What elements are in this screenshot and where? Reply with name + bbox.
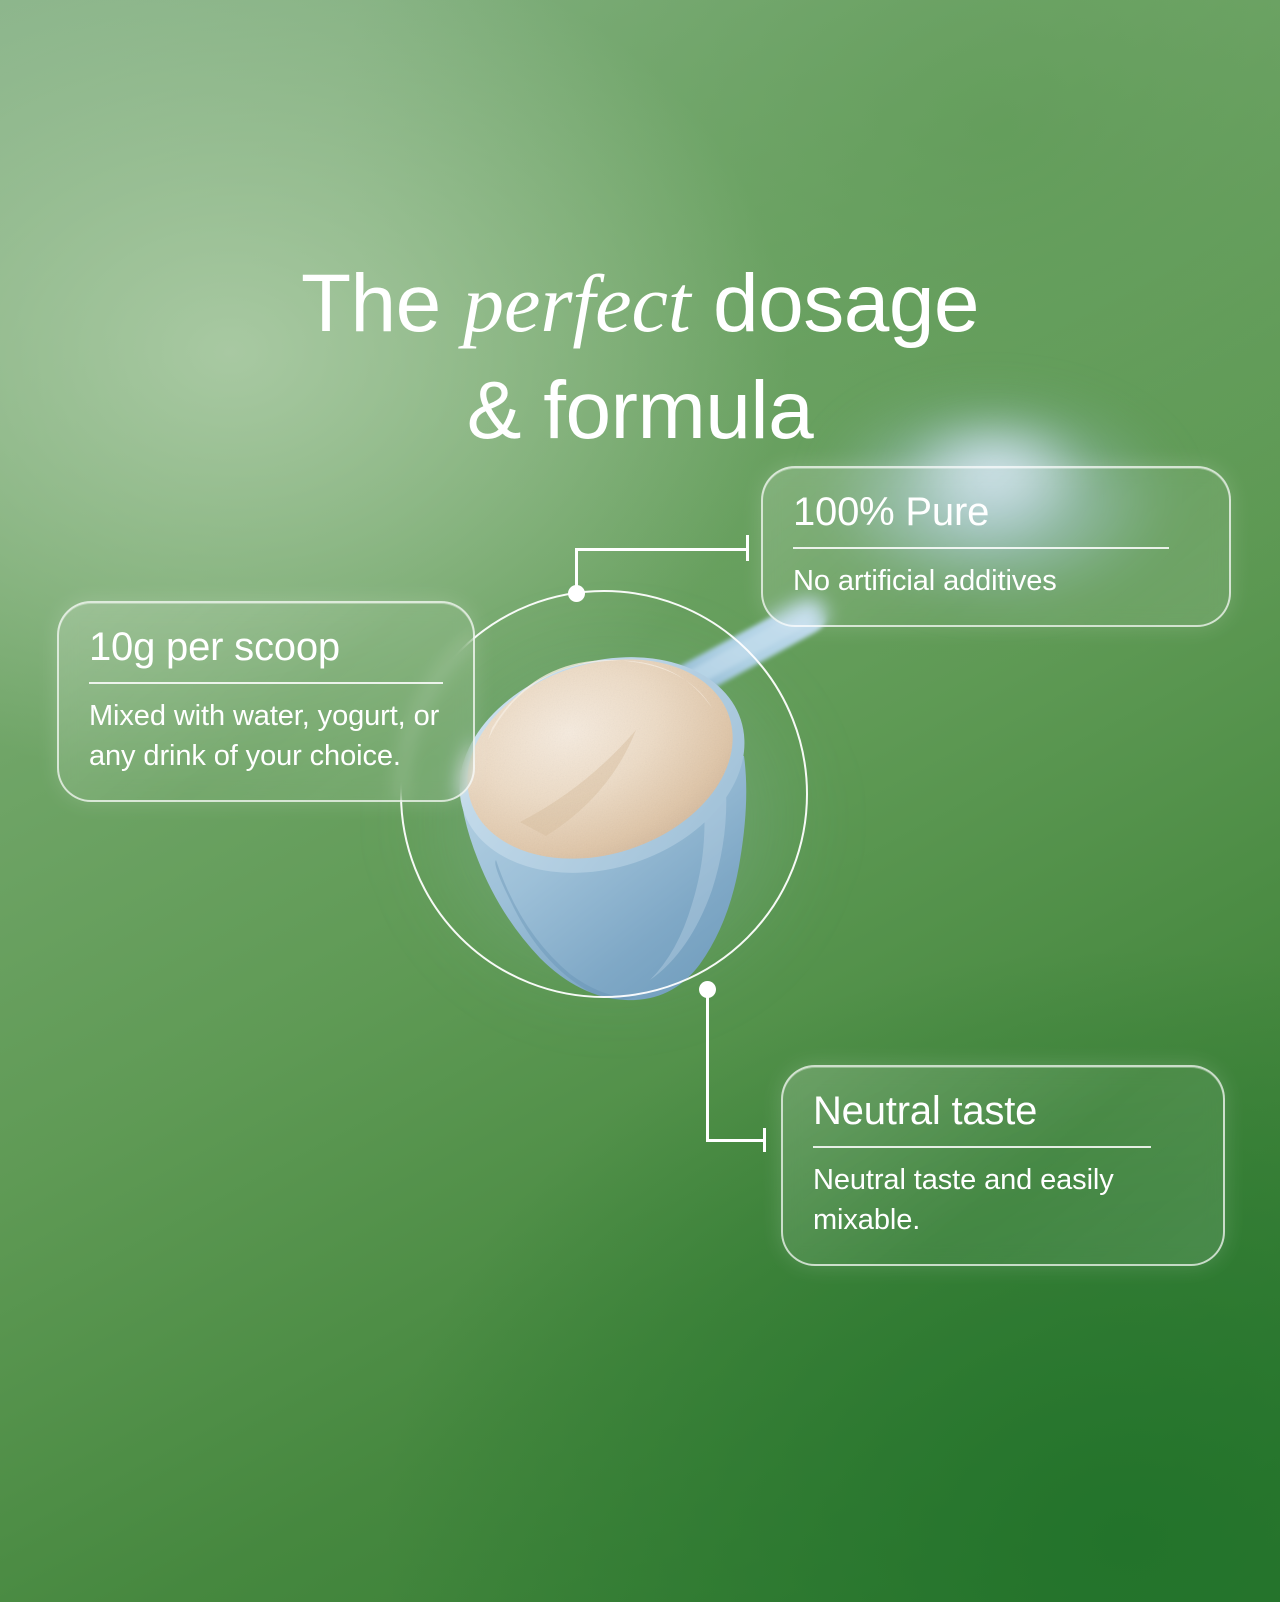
info-card-dosage[interactable]: 10g per scoop Mixed with water, yogurt, … xyxy=(57,601,475,802)
info-card-purity-title: 100% Pure xyxy=(793,490,1199,535)
page-title: The perfect dosage& formula xyxy=(0,251,1280,464)
info-card-dosage-body: Mixed with water, yogurt, or any drink o… xyxy=(89,696,443,776)
poster-canvas: The perfect dosage& formula xyxy=(0,0,1280,1602)
info-card-purity[interactable]: 100% Pure No artificial additives xyxy=(761,466,1231,627)
headline-line-2: & formula xyxy=(467,365,813,456)
info-card-dosage-divider xyxy=(89,682,443,684)
info-card-taste-divider xyxy=(813,1146,1151,1148)
headline-emphasis: perfect xyxy=(463,258,691,349)
info-card-taste-title: Neutral taste xyxy=(813,1089,1193,1134)
info-card-purity-divider xyxy=(793,547,1169,549)
info-card-taste-body: Neutral taste and easily mixable. xyxy=(813,1160,1193,1240)
info-card-purity-body: No artificial additives xyxy=(793,561,1199,601)
info-card-taste[interactable]: Neutral taste Neutral taste and easily m… xyxy=(781,1065,1225,1266)
headline-part-2: dosage xyxy=(691,258,979,349)
info-card-dosage-title: 10g per scoop xyxy=(89,625,443,670)
headline-part-1: The xyxy=(301,258,463,349)
